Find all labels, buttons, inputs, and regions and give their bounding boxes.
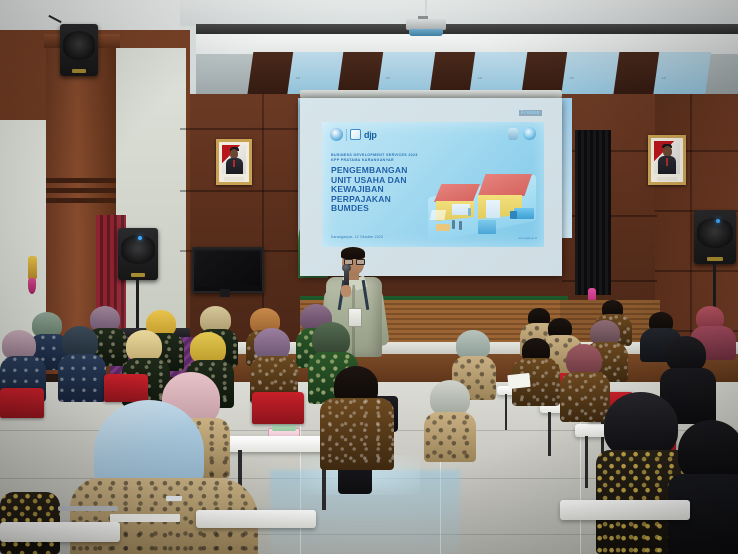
seminar-room-photo: AC AC AC AC AC <box>0 0 738 554</box>
ceiling-white-band <box>196 34 738 54</box>
presentation-slide: djp BUSINESS DEVELOPMENT SERVICES 2023 K… <box>322 122 544 247</box>
projector-lens-icon <box>409 29 443 36</box>
wall-seam <box>655 270 738 272</box>
portrait-tie <box>666 158 668 167</box>
tablet-desk <box>196 510 316 528</box>
ceiling-beam-panel: AC <box>653 52 711 98</box>
hijab-label-tag <box>166 496 182 501</box>
audience-chair <box>104 374 148 402</box>
tv-screen <box>196 251 260 286</box>
iso-person <box>468 208 471 216</box>
pa-speaker-right <box>694 210 736 264</box>
presenter-hair <box>341 247 365 259</box>
circular-emblem-logo <box>523 127 536 140</box>
eyeglasses-icon <box>356 259 365 265</box>
iso-truck <box>514 208 534 219</box>
wall-tv-monitor <box>192 247 264 293</box>
ceiling-panel-label: AC <box>477 76 483 80</box>
tv-wall-mount <box>220 289 230 297</box>
portrait-photo <box>654 141 680 174</box>
portrait-tie <box>233 160 235 168</box>
president-portrait <box>216 139 252 185</box>
ceiling-beam-top <box>180 0 738 26</box>
slide-logo-group-left: djp <box>330 128 377 141</box>
iso-water-tank <box>478 220 496 234</box>
lanyard-id-badge <box>348 308 362 327</box>
ceiling-beam-panel: AC <box>561 52 619 98</box>
portrait-photo <box>222 145 246 174</box>
hijab <box>604 392 678 458</box>
vice-president-portrait <box>648 135 686 185</box>
projector-freeze-indicator: Freeze <box>519 110 542 116</box>
wall-seam <box>180 190 300 192</box>
left-wall-light-panel <box>116 48 186 348</box>
microphone-head-icon <box>342 264 351 272</box>
audience-outfit <box>424 412 476 462</box>
wall-seam <box>262 94 264 344</box>
desk-leg <box>548 412 551 456</box>
hijab <box>312 322 350 356</box>
white-papers <box>110 514 180 522</box>
ceiling-panel-label: AC <box>661 76 667 80</box>
portrait-nameplate <box>657 177 677 181</box>
audience-chair <box>0 388 44 418</box>
pa-speaker-left <box>118 228 158 280</box>
dark-curtain <box>575 130 611 295</box>
tablet-desk <box>216 436 336 452</box>
portrait-nameplate <box>224 177 243 181</box>
hijab <box>430 380 470 416</box>
iso-produce <box>436 224 450 231</box>
kemenkeu-emblem-logo <box>330 128 343 141</box>
audience-outfit <box>320 398 394 470</box>
green-food-box <box>272 424 296 431</box>
iso-building-door <box>486 200 500 218</box>
desk-leg <box>585 436 588 488</box>
hijab <box>678 420 738 482</box>
presenter-hand <box>341 285 351 297</box>
desk-leg <box>505 394 507 430</box>
tablet-desk <box>560 500 690 520</box>
iso-truck-cab <box>510 211 517 219</box>
hijab <box>666 336 706 372</box>
djp-mark-icon <box>350 129 361 140</box>
speaker-grille-icon <box>697 218 732 248</box>
ceiling-panel-label: AC <box>569 76 575 80</box>
iso-stall <box>430 210 446 220</box>
speaker-grille-icon <box>63 31 95 60</box>
iso-person <box>452 220 455 229</box>
portrait-face <box>663 146 672 157</box>
pillar-groove <box>46 178 116 183</box>
chair-frame <box>58 506 118 511</box>
ceiling-speaker <box>60 24 98 76</box>
iso-building-roof <box>478 174 532 196</box>
audience-outfit <box>560 372 610 422</box>
audience-outfit <box>58 354 106 402</box>
regency-emblem-logo <box>508 128 518 140</box>
iso-building-roof <box>434 184 480 202</box>
slide-date-line: Karanganyar, 12 Oktober 2023 <box>331 235 383 239</box>
speaker-power-led <box>138 236 142 240</box>
speaker-power-led <box>716 219 720 223</box>
iso-person <box>459 221 462 230</box>
tablet-desk <box>0 522 120 542</box>
slide-logo-group-right <box>508 127 536 140</box>
pillar-groove <box>46 188 116 193</box>
projection-screen-housing <box>300 90 562 98</box>
djp-wordmark: djp <box>364 130 377 140</box>
logo-divider <box>346 129 347 141</box>
pillar-groove <box>46 198 116 203</box>
white-papers <box>507 373 530 389</box>
audience-chair <box>252 392 304 424</box>
ceiling-dark-strip <box>196 24 738 34</box>
wall-seam <box>180 128 300 130</box>
ornament-tassel <box>28 278 36 294</box>
ceiling-panel-label: AC <box>295 76 301 80</box>
gold-pink-hanging-ornament <box>28 256 37 280</box>
slide-illustration <box>426 164 538 240</box>
speaker-brand-badge <box>131 273 145 277</box>
ceiling-panel-label: AC <box>385 76 391 80</box>
speaker-brand-badge <box>72 69 86 73</box>
speaker-brand-badge <box>707 257 722 261</box>
